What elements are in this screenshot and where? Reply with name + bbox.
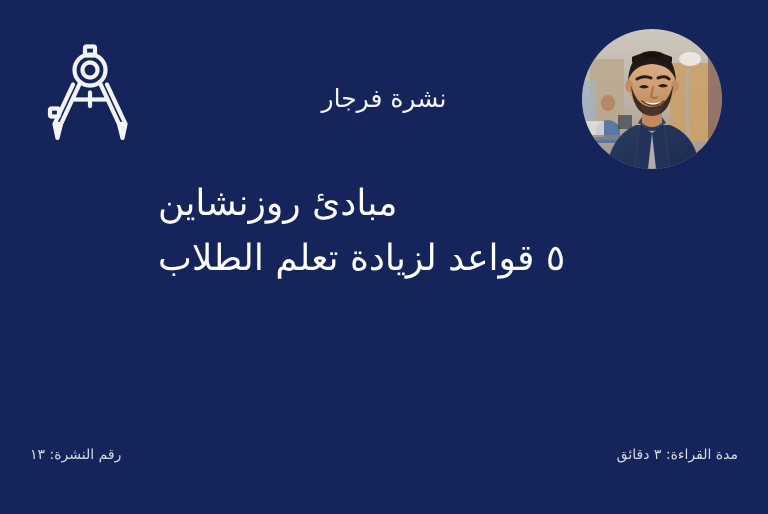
newsletter-kicker: نشرة فرجار	[303, 82, 465, 116]
avatar	[582, 29, 722, 169]
compass-divider-icon	[44, 44, 136, 142]
headline-line-1: مبادئ روزنشاين	[158, 176, 610, 231]
headline-line-2: ٥ قواعد لزيادة تعلم الطلاب	[158, 231, 610, 286]
footer-meta: مدة القراءة: ٣ دقائق رقم النشرة: ١٣	[30, 444, 738, 466]
avatar-portrait-illustration	[582, 29, 722, 169]
newsletter-cover-card: نشرة فرجار مبادئ روزنشاين ٥ قواعد لزيادة…	[0, 0, 768, 514]
headline: مبادئ روزنشاين ٥ قواعد لزيادة تعلم الطلا…	[158, 176, 610, 286]
reading-time-label: مدة القراءة: ٣ دقائق	[617, 444, 738, 466]
issue-number-label: رقم النشرة: ١٣	[30, 444, 121, 466]
